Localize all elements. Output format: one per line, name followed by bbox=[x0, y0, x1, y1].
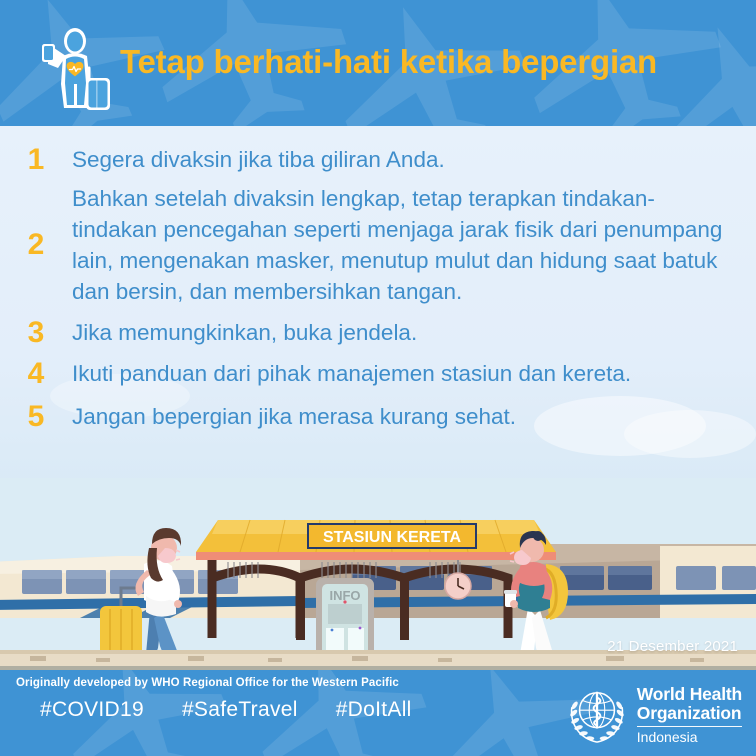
traveler-with-suitcase-icon bbox=[30, 22, 114, 112]
station-sign-label: STASIUN KERETA bbox=[323, 529, 462, 546]
footer-bar: Originally developed by WHO Regional Off… bbox=[0, 670, 756, 756]
hashtag-row: #COVID19 #SafeTravel #DoItAll bbox=[40, 698, 412, 722]
list-item-number: 2 bbox=[0, 230, 72, 260]
list-item: 2 Bahkan setelah divaksin lengkap, tetap… bbox=[0, 183, 756, 307]
poster-root: Tetap berhati-hati ketika bepergian bbox=[0, 0, 756, 756]
list-item-number: 3 bbox=[0, 318, 72, 348]
who-divider bbox=[637, 726, 742, 727]
date-stamp: 21 Desember 2021 bbox=[607, 638, 738, 655]
list-item: 1 Segera divaksin jika tiba giliran Anda… bbox=[0, 144, 756, 175]
list-item-text: Jika memungkinkan, buka jendela. bbox=[72, 317, 443, 348]
list-item-text: Jangan bepergian jika merasa kurang seha… bbox=[72, 401, 542, 432]
list-item: 3 Jika memungkinkan, buka jendela. bbox=[0, 317, 756, 348]
list-item-text: Ikuti panduan dari pihak manajemen stasi… bbox=[72, 358, 657, 389]
attribution-text: Originally developed by WHO Regional Off… bbox=[16, 677, 399, 689]
who-line-1: World Health bbox=[637, 685, 742, 704]
list-item-text: Segera divaksin jika tiba giliran Anda. bbox=[72, 144, 471, 175]
list-item-number: 1 bbox=[0, 145, 72, 175]
page-title: Tetap berhati-hati ketika bepergian bbox=[120, 40, 740, 84]
who-logo: World Health Organization Indonesia bbox=[566, 684, 742, 746]
list-item: 4 Ikuti panduan dari pihak manajemen sta… bbox=[0, 358, 756, 389]
list-item-number: 5 bbox=[0, 402, 72, 432]
hashtag-covid19[interactable]: #COVID19 bbox=[40, 698, 144, 722]
list-item-text: Bahkan setelah divaksin lengkap, tetap t… bbox=[72, 183, 756, 307]
who-emblem-icon bbox=[566, 684, 628, 746]
instruction-list: 1 Segera divaksin jika tiba giliran Anda… bbox=[0, 126, 756, 434]
who-country-label: Indonesia bbox=[637, 729, 742, 745]
who-wordmark: World Health Organization Indonesia bbox=[637, 684, 742, 745]
hashtag-doitall[interactable]: #DoItAll bbox=[336, 698, 412, 722]
header-bar: Tetap berhati-hati ketika bepergian bbox=[0, 0, 756, 126]
list-item: 5 Jangan bepergian jika merasa kurang se… bbox=[0, 401, 756, 432]
list-item-number: 4 bbox=[0, 359, 72, 389]
hashtag-safetravel[interactable]: #SafeTravel bbox=[182, 698, 298, 722]
who-line-2: Organization bbox=[637, 704, 742, 723]
